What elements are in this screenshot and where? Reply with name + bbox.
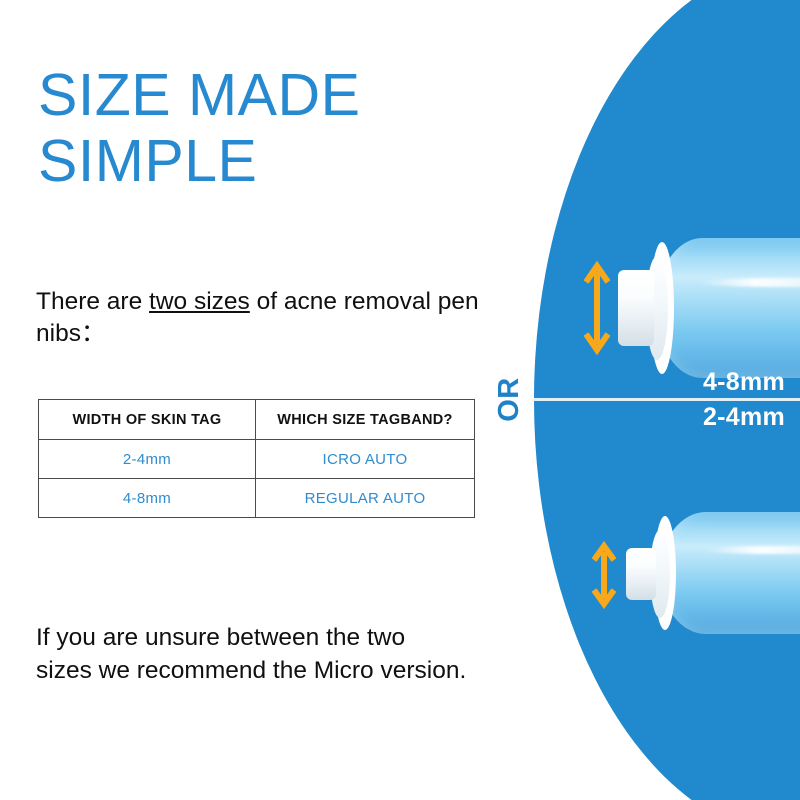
table-row: 2-4mm ICRO AUTO: [39, 440, 475, 479]
table-header-width: WIDTH OF SKIN TAG: [39, 400, 256, 440]
or-label-text: OR: [493, 377, 526, 422]
footer-note: If you are unsure between the two sizes …: [36, 622, 516, 687]
table-header-tagband: WHICH SIZE TAGBAND?: [256, 400, 475, 440]
nib-height-arrow: [590, 540, 618, 610]
intro-text-before: There are: [36, 288, 149, 315]
size-caption-micro: 2-4mm: [594, 403, 800, 432]
page-title: SIZE MADE SIMPLE: [38, 62, 508, 194]
footer-note-line-2: sizes we recommend the Micro version.: [36, 655, 516, 688]
table-cell-width-2: 4-8mm: [39, 479, 256, 518]
page-title-line-2: SIMPLE: [38, 128, 508, 194]
table-header-row: WIDTH OF SKIN TAG WHICH SIZE TAGBAND?: [39, 400, 475, 440]
regular-pen-body: [656, 238, 800, 378]
product-panel: 4-8mm 2-4mm: [534, 0, 800, 800]
footer-note-line-1: If you are unsure between the two: [36, 622, 516, 655]
micro-pen-nib: [626, 548, 656, 600]
micro-pen-body: [660, 512, 800, 634]
intro-text-emphasis: two sizes: [149, 288, 250, 315]
nib-height-arrow: [582, 260, 612, 356]
or-label: OR: [489, 368, 529, 430]
intro-paragraph: There are two sizes of acne removal pen …: [36, 286, 506, 351]
infographic-canvas: SIZE MADE SIMPLE There are two sizes of …: [0, 0, 800, 800]
table-cell-tagband-2: REGULAR AUTO: [256, 479, 475, 518]
size-divider: [534, 398, 800, 401]
table-cell-tagband-1: ICRO AUTO: [256, 440, 475, 479]
table-cell-width-1: 2-4mm: [39, 440, 256, 479]
size-caption-regular: 4-8mm: [594, 368, 800, 397]
table-row: 4-8mm REGULAR AUTO: [39, 479, 475, 518]
size-table: WIDTH OF SKIN TAG WHICH SIZE TAGBAND? 2-…: [38, 399, 475, 518]
page-title-line-1: SIZE MADE: [38, 62, 508, 128]
regular-pen-nib: [618, 270, 654, 346]
